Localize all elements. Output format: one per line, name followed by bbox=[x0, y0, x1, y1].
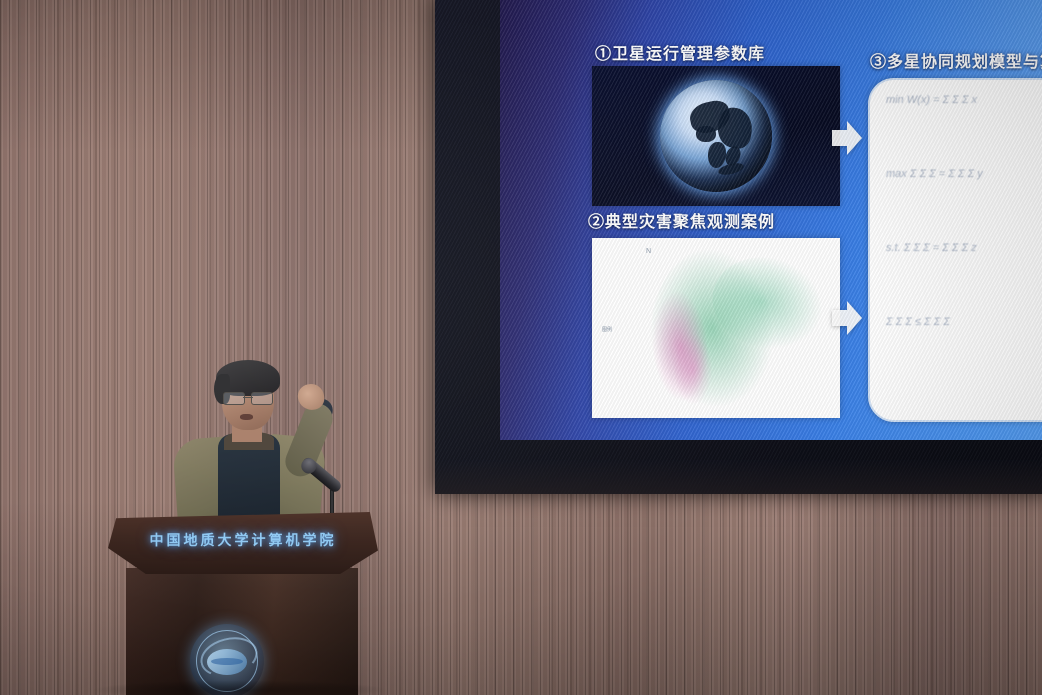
photo-vignette bbox=[0, 0, 1042, 695]
presentation-photo: 卫星应急观测协同规划与任务生成 ①卫星运行管理参数库 ②典型灾害聚焦观测案例 bbox=[0, 0, 1042, 695]
